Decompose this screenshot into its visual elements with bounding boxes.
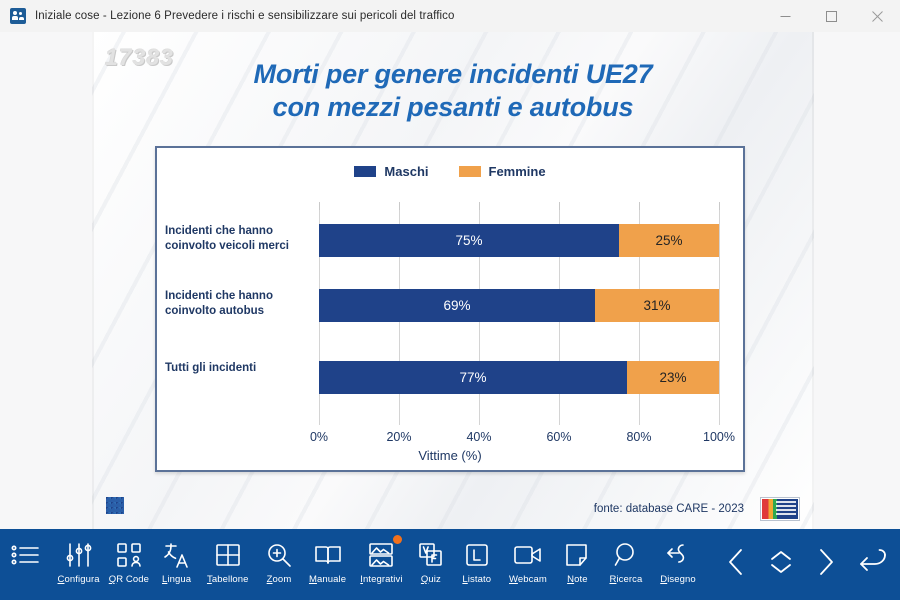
x-tick-mark — [399, 202, 400, 210]
bar-value-label: 75% — [455, 233, 482, 248]
toolbar-button-webcam[interactable]: Webcam — [501, 529, 554, 585]
note-icon — [564, 541, 590, 569]
bar-value-label: 31% — [643, 298, 670, 313]
toolbar-button-lingua[interactable]: Lingua — [154, 529, 200, 585]
legend-label-femmine: Femmine — [489, 164, 546, 179]
list-menu-icon — [11, 541, 41, 569]
toolbar-button-label: Disegno — [660, 574, 696, 585]
plot-top-ticks — [319, 202, 719, 210]
x-tick-mark — [479, 202, 480, 210]
pen-draw-icon — [665, 541, 691, 569]
zoom-in-icon — [266, 541, 292, 569]
bar-row: 75%25% — [319, 224, 719, 257]
chevron-left-icon — [724, 547, 750, 582]
toolbar-button-zoom[interactable]: Zoom — [256, 529, 302, 585]
toolbar-button-menu[interactable] — [0, 529, 53, 569]
webcam-icon — [513, 541, 543, 569]
nav-next-button[interactable] — [803, 529, 847, 589]
nav-return-button[interactable] — [847, 529, 900, 589]
x-tick-label: 40% — [466, 430, 491, 444]
toolbar-button-label: Quiz — [421, 574, 441, 585]
toolbar-button-label: Tabellone — [207, 574, 249, 585]
plot-area: 75%25%69%31%77%23% — [319, 210, 719, 425]
x-tick-label: 100% — [703, 430, 735, 444]
chart-legend: Maschi Femmine — [157, 164, 743, 179]
book-icon — [314, 541, 342, 569]
toolbar-button-label: Configura — [58, 574, 100, 585]
contacts-icon — [10, 8, 26, 24]
bottom-toolbar: ConfiguraQR CodeLinguaTabelloneZoomManua… — [0, 529, 900, 600]
close-button[interactable] — [854, 0, 900, 32]
toolbar-button-listato[interactable]: Listato — [452, 529, 501, 585]
category-label-2: Tutti gli incidenti — [157, 361, 309, 376]
chevron-right-icon — [812, 547, 838, 582]
maximize-icon — [826, 11, 837, 22]
toolbar-button-integrativi[interactable]: Integrativi — [353, 529, 410, 585]
toolbar-button-manuale[interactable]: Manuale — [302, 529, 353, 585]
toolbar-button-label: Listato — [462, 574, 491, 585]
chevron-updown-icon — [766, 547, 796, 582]
minimize-button[interactable] — [762, 0, 808, 32]
slide-title-line1: Morti per genere incidenti UE27 — [254, 59, 653, 89]
application-window: Iniziale cose - Lezione 6 Prevedere i ri… — [0, 0, 900, 600]
toolbar-button-quiz[interactable]: Quiz — [410, 529, 452, 585]
eu-logo-graphic — [762, 499, 798, 519]
toolbar-button-label: Webcam — [509, 574, 547, 585]
listing-icon — [464, 541, 490, 569]
bar-segment-maschi: 77% — [319, 361, 627, 394]
bar-value-label: 69% — [443, 298, 470, 313]
search-icon — [613, 541, 639, 569]
slide-canvas[interactable]: 17383 Morti per genere incidenti UE27 co… — [92, 32, 814, 529]
toolbar-button-ricerca[interactable]: Ricerca — [600, 529, 651, 585]
x-tick-mark — [319, 202, 320, 210]
x-axis-title: Vittime (%) — [157, 448, 743, 463]
grid-table-icon — [215, 541, 241, 569]
quiz-card-icon — [418, 541, 444, 569]
bar-value-label: 23% — [659, 370, 686, 385]
notification-badge — [393, 535, 402, 544]
x-tick-label: 60% — [546, 430, 571, 444]
category-axis: Incidenti che hanno coinvolto veicoli me… — [157, 210, 319, 425]
x-tick-label: 80% — [626, 430, 651, 444]
window-controls — [762, 0, 900, 32]
x-axis-ticks: 0%20%40%60%80%100% — [319, 430, 719, 448]
category-label-0: Incidenti che hanno coinvolto veicoli me… — [157, 224, 309, 254]
maximize-button[interactable] — [808, 0, 854, 32]
toolbar-button-configura[interactable]: Configura — [53, 529, 104, 585]
window-title: Iniziale cose - Lezione 6 Prevedere i ri… — [35, 10, 455, 22]
legend-item-femmine: Femmine — [459, 164, 546, 179]
x-tick-label: 20% — [386, 430, 411, 444]
slide-title-line2: con mezzi pesanti e autobus — [92, 91, 814, 124]
sliders-icon — [66, 541, 92, 569]
qrcode-icon — [116, 541, 142, 569]
bar-segment-maschi: 75% — [319, 224, 619, 257]
bar-value-label: 77% — [459, 370, 486, 385]
toolbar-button-tabellone[interactable]: Tabellone — [200, 529, 257, 585]
toolbar-button-label: Zoom — [267, 574, 292, 585]
bar-row: 77%23% — [319, 361, 719, 394]
bar-segment-femmine: 25% — [619, 224, 719, 257]
legend-label-maschi: Maschi — [384, 164, 428, 179]
toolbar-button-note[interactable]: Note — [554, 529, 600, 585]
bar-value-label: 25% — [655, 233, 682, 248]
presentation-stage: 17383 Morti per genere incidenti UE27 co… — [0, 32, 900, 529]
category-label-1: Incidenti che hanno coinvolto autobus — [157, 289, 309, 319]
bar-segment-femmine: 31% — [595, 289, 719, 322]
chart-container: Maschi Femmine Incidenti che hanno coinv… — [155, 146, 745, 472]
organization-logo — [106, 497, 128, 521]
toolbar-button-label: Integrativi — [360, 574, 402, 585]
close-icon — [872, 11, 883, 22]
toolbar-button-label: Note — [567, 574, 587, 585]
eu-logo — [760, 497, 800, 521]
legend-item-maschi: Maschi — [354, 164, 428, 179]
images-icon — [368, 541, 394, 569]
minimize-icon — [780, 11, 791, 22]
slide-title: Morti per genere incidenti UE27 con mezz… — [92, 58, 814, 124]
bar-row: 69%31% — [319, 289, 719, 322]
translate-icon — [163, 541, 191, 569]
x-tick-mark — [639, 202, 640, 210]
x-tick-label: 0% — [310, 430, 328, 444]
x-tick-mark — [719, 202, 720, 210]
gridline — [719, 210, 720, 425]
toolbar-button-label: Lingua — [162, 574, 191, 585]
toolbar-button-qr-code[interactable]: QR Code — [104, 529, 153, 585]
return-arrow-icon — [857, 549, 889, 580]
organization-logo-glyph — [106, 497, 124, 514]
bar-segment-maschi: 69% — [319, 289, 595, 322]
bar-segment-femmine: 23% — [627, 361, 719, 394]
nav-previous-button[interactable] — [715, 529, 759, 589]
toolbar-button-label: Ricerca — [609, 574, 642, 585]
source-note: fonte: database CARE - 2023 — [594, 503, 744, 515]
toolbar-button-label: Manuale — [309, 574, 346, 585]
legend-swatch-maschi — [354, 166, 376, 177]
nav-updown-button[interactable] — [759, 529, 803, 589]
legend-swatch-femmine — [459, 166, 481, 177]
x-tick-mark — [559, 202, 560, 210]
title-bar: Iniziale cose - Lezione 6 Prevedere i ri… — [0, 0, 900, 33]
toolbar-button-label: QR Code — [109, 574, 149, 585]
toolbar-button-disegno[interactable]: Disegno — [652, 529, 705, 585]
